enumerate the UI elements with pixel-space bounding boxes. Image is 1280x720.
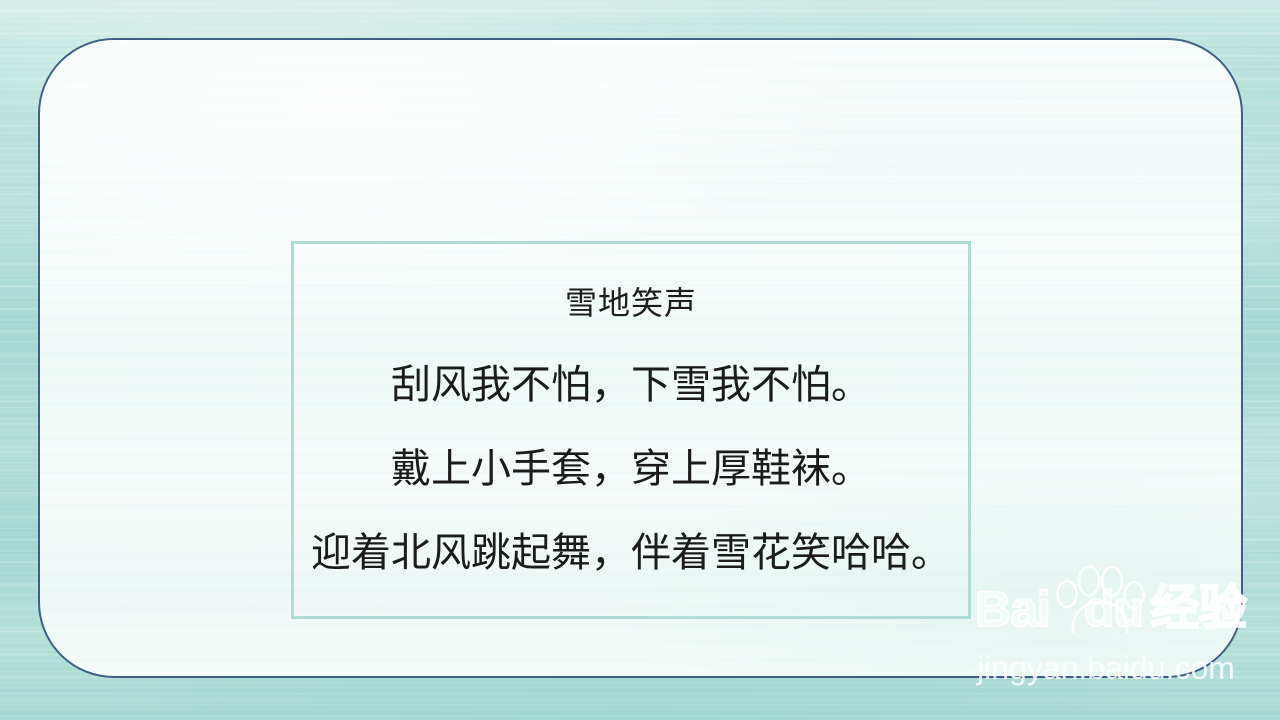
poem-line-1: 刮风我不怕，下雪我不怕。 <box>391 363 871 407</box>
poem-title: 雪地笑声 <box>565 286 697 321</box>
poem-line-2: 戴上小手套，穿上厚鞋袜。 <box>391 447 871 491</box>
poem-content: 雪地笑声 刮风我不怕，下雪我不怕。 戴上小手套，穿上厚鞋袜。 迎着北风跳起舞，伴… <box>294 244 968 616</box>
slide-canvas: 雪地笑声 刮风我不怕，下雪我不怕。 戴上小手套，穿上厚鞋袜。 迎着北风跳起舞，伴… <box>0 0 1280 720</box>
poem-bordered-box: 雪地笑声 刮风我不怕，下雪我不怕。 戴上小手套，穿上厚鞋袜。 迎着北风跳起舞，伴… <box>291 241 971 619</box>
rounded-card-panel: 雪地笑声 刮风我不怕，下雪我不怕。 戴上小手套，穿上厚鞋袜。 迎着北风跳起舞，伴… <box>38 38 1243 678</box>
poem-line-3: 迎着北风跳起舞，伴着雪花笑哈哈。 <box>311 531 951 575</box>
